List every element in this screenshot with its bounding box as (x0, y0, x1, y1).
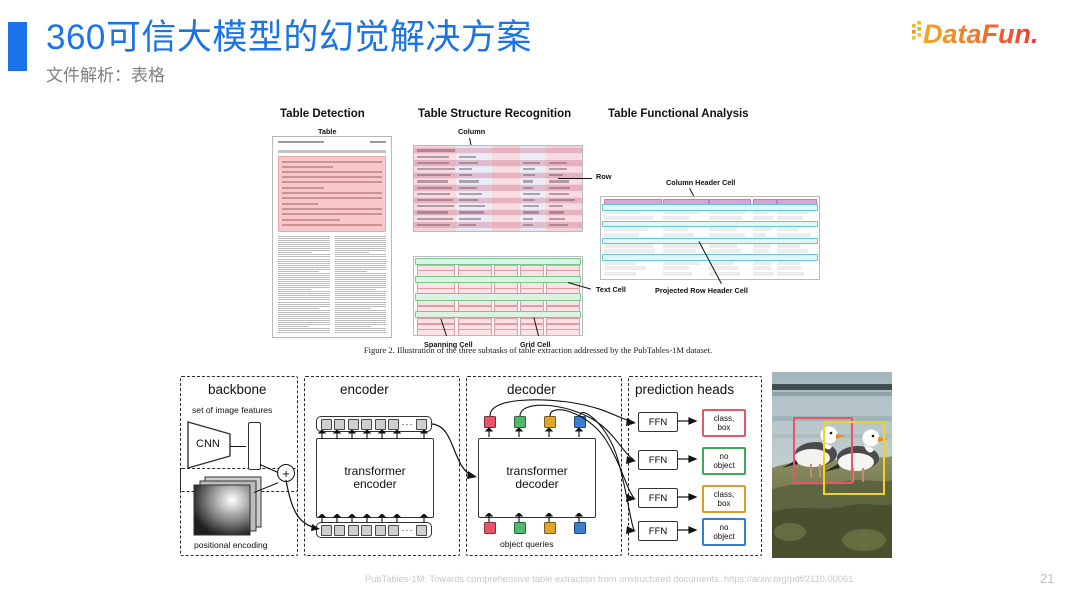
label-object-queries: object queries (500, 539, 554, 549)
page-subtitle: 文件解析：表格 (46, 64, 165, 88)
token-cell (348, 419, 359, 430)
token-cell (334, 419, 345, 430)
table-cell (777, 272, 804, 276)
table-text-bar (417, 149, 455, 151)
table-cell (709, 210, 746, 214)
token-ellipsis: ··· (402, 526, 414, 534)
projected-row-header-cell (602, 221, 818, 228)
document-table-caption-line (278, 150, 386, 153)
table-cell (777, 227, 798, 231)
table-functional-analysis-table (600, 196, 820, 280)
table-cell (753, 210, 769, 214)
stage-label-encoder: encoder (340, 382, 389, 397)
projected-row-header-cell (602, 204, 818, 211)
table-text-bar (549, 180, 569, 182)
annotation-column: Column (458, 127, 485, 136)
table-text-bar (549, 162, 567, 164)
prediction-1-line2: box (718, 423, 731, 432)
table-cell (777, 233, 810, 237)
encoder-to-decoder-curve (428, 418, 480, 484)
projected-row-header-cell (602, 238, 818, 245)
table-text-bar (459, 156, 476, 158)
token-ellipsis: ··· (402, 420, 414, 428)
table-text-bar (459, 218, 481, 220)
table-cell (777, 249, 808, 253)
table-text-bar (549, 187, 570, 189)
title-accent-bar (8, 22, 27, 71)
annotation-table: Table (318, 127, 337, 136)
table-cell (604, 210, 640, 214)
table-cell (753, 261, 771, 265)
table-text-bar (459, 224, 476, 226)
prediction-box-4: no object (702, 518, 746, 546)
slide-root: 360可信大模型的幻觉解决方案 文件解析：表格 DataFun. (0, 0, 1080, 608)
spanning-cell (415, 276, 581, 283)
grid-cell (494, 329, 518, 336)
spanning-cell (415, 311, 581, 318)
document-body-text (278, 236, 386, 333)
token-cell (361, 525, 372, 536)
table-structure-columns-table (413, 145, 583, 232)
spanning-cell (415, 293, 581, 300)
prediction-4-line1: no (720, 523, 729, 532)
panel-title-table-structure-recognition: Table Structure Recognition (418, 108, 571, 120)
table-text-bar (417, 162, 449, 164)
table-text-bar (417, 168, 455, 170)
table-cell (753, 266, 771, 270)
table-text-bar (459, 162, 478, 164)
table-cell (604, 266, 646, 270)
token-cell (416, 525, 427, 536)
sum-to-encoder-curve (276, 472, 324, 532)
table-cell (663, 244, 703, 248)
table-text-bar (523, 199, 535, 201)
datafun-logo: DataFun. (912, 18, 1064, 48)
table-text-bar (417, 224, 450, 226)
token-cell (388, 525, 399, 536)
table-text-bar (523, 224, 533, 226)
table-cell (604, 272, 636, 276)
detected-table-region (278, 156, 386, 232)
ffn-block-3: FFN (638, 488, 678, 508)
label-positional-encoding: positional encoding (194, 540, 268, 550)
transformer-encoder-block: transformer encoder (316, 438, 434, 518)
ffn-block-2: FFN (638, 450, 678, 470)
table-cell (753, 233, 766, 237)
token-cell (334, 525, 345, 536)
ffn-block-4: FFN (638, 521, 678, 541)
table-text-bar (459, 211, 484, 213)
table-cell (753, 216, 773, 220)
table-text-bar (417, 218, 453, 220)
table-text-bar (459, 199, 478, 201)
table-text-bar (459, 168, 472, 170)
figure2-container: Table Detection Table Structure Recognit… (258, 108, 818, 363)
table-text-bar (549, 168, 567, 170)
token-cell (348, 525, 359, 536)
table-text-bar (459, 193, 482, 195)
source-reference: PubTables-1M: Towards comprehensive tabl… (365, 574, 853, 584)
annotation-text-cell: Text Cell (596, 285, 626, 294)
table-text-bar (417, 199, 453, 201)
document-page-thumbnail (272, 136, 392, 338)
arrow-cnn-to-features (230, 446, 246, 447)
table-text-bar (523, 218, 533, 220)
table-text-bar (523, 162, 540, 164)
prediction-box-3: class, box (702, 485, 746, 513)
leader-line-row (558, 178, 592, 179)
table-cell (604, 227, 648, 231)
feature-vector-bar (248, 422, 261, 470)
table-text-bar (523, 187, 533, 189)
table-text-bar (417, 180, 448, 182)
table-cell (604, 233, 639, 237)
datafun-logo-icon: DataFun. (912, 17, 1064, 49)
token-cell (375, 525, 386, 536)
table-text-bar (523, 211, 539, 213)
token-cell (388, 419, 399, 430)
token-cell (361, 419, 372, 430)
document-header-line (278, 141, 386, 144)
table-cell (663, 249, 696, 253)
document-text-column-right (335, 236, 387, 333)
table-text-bar (549, 218, 565, 220)
table-text-bar (417, 193, 450, 195)
prediction-2-line2: object (713, 461, 734, 470)
table-cell (663, 266, 689, 270)
table-text-bar (549, 199, 575, 201)
panel-title-table-functional-analysis: Table Functional Analysis (608, 108, 749, 120)
positional-encoding-maps-icon (192, 476, 270, 538)
table-cell (663, 210, 701, 214)
table-cell (777, 216, 803, 220)
table-text-bar (459, 187, 477, 189)
annotation-row: Row (596, 172, 611, 181)
spanning-cell (415, 258, 581, 265)
panel-title-table-detection: Table Detection (280, 108, 365, 120)
table-cell (663, 233, 694, 237)
table-text-bar (417, 187, 452, 189)
stage-label-backbone: backbone (208, 382, 267, 397)
page-number: 21 (1040, 571, 1054, 586)
stage-label-prediction-heads: prediction heads (635, 382, 734, 397)
table-cell (709, 244, 737, 248)
table-cell (604, 261, 635, 265)
grid-cell (458, 329, 492, 336)
table-cell (709, 249, 741, 253)
table-text-bar (549, 224, 568, 226)
grid-cell (520, 329, 544, 336)
table-cell (777, 210, 809, 214)
table-cell (753, 227, 772, 231)
table-cell (604, 244, 653, 248)
table-text-bar (417, 211, 448, 213)
grid-cell (417, 329, 455, 336)
token-cell (416, 419, 427, 430)
table-cell (753, 272, 774, 276)
table-cell (709, 233, 745, 237)
table-cell (604, 216, 653, 220)
table-text-bar (549, 211, 564, 213)
prediction-3-line1: class, (714, 490, 734, 499)
annotation-column-header-cell: Column Header Cell (666, 178, 735, 187)
table-cell (709, 227, 737, 231)
token-cell (321, 419, 332, 430)
table-text-bar (523, 193, 540, 195)
ffn-block-1: FFN (638, 412, 678, 432)
table-cell (777, 261, 800, 265)
ffn-to-pred-arrows (676, 408, 702, 538)
prediction-box-2: no object (702, 447, 746, 475)
detr-architecture-figure: backbone encoder decoder prediction head… (176, 372, 892, 558)
table-cell (777, 266, 801, 270)
table-cell (709, 272, 740, 276)
table-structure-cells-table (413, 256, 583, 336)
table-cell (753, 244, 771, 248)
table-cell (663, 261, 701, 265)
annotation-projected-row-header-cell: Projected Row Header Cell (655, 286, 748, 295)
prediction-1-line1: class, (714, 414, 734, 423)
prediction-2-line1: no (720, 452, 729, 461)
encoder-positional-token-row: ··· (316, 522, 432, 538)
table-cell (663, 227, 688, 231)
table-cell (604, 249, 655, 253)
table-text-bar (523, 168, 535, 170)
table-cell (663, 216, 689, 220)
cnn-label: CNN (196, 438, 220, 450)
grid-cell (546, 329, 580, 336)
encoder-up-arrows (314, 430, 436, 440)
table-text-bar (459, 180, 479, 182)
table-text-bar (417, 156, 449, 158)
prediction-4-line2: object (713, 532, 734, 541)
seagull-photo (772, 372, 892, 558)
table-cell (709, 216, 742, 220)
document-text-column-left (278, 236, 330, 333)
detection-result-photo (772, 372, 892, 558)
encoder-down-arrows (314, 514, 436, 524)
svg-text:DataFun.: DataFun. (923, 19, 1039, 49)
figure2-caption: Figure 2. Illustration of the three subt… (258, 345, 818, 355)
prediction-box-1: class, box (702, 409, 746, 437)
table-cell (709, 261, 734, 265)
label-set-of-image-features: set of image features (192, 405, 272, 415)
table-cell (777, 244, 800, 248)
stage-label-decoder: decoder (507, 382, 556, 397)
table-text-bar (523, 180, 533, 182)
token-cell (375, 419, 386, 430)
page-title: 360可信大模型的幻觉解决方案 (46, 16, 532, 60)
table-cell (663, 272, 692, 276)
projected-row-header-cell (602, 254, 818, 261)
table-cell (753, 249, 769, 253)
table-text-bar (549, 193, 569, 195)
prediction-3-line2: box (718, 499, 731, 508)
transformer-encoder-line2: encoder (353, 478, 396, 491)
